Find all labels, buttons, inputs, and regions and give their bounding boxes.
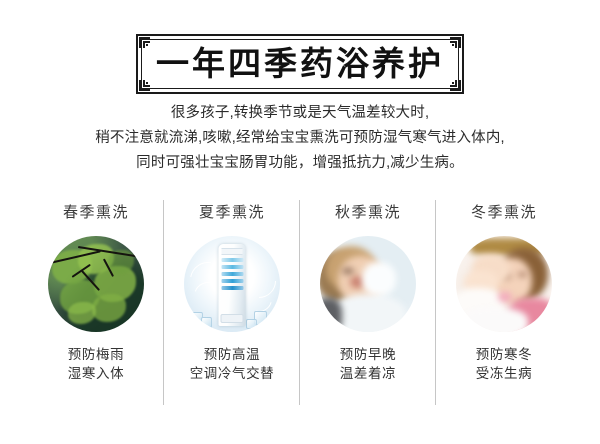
season-title-summer: 夏季熏洗 — [199, 201, 265, 222]
spring-branches-photo — [48, 236, 144, 332]
caption-line: 预防寒冬 — [476, 345, 532, 364]
season-column-spring: 春季熏洗 预防梅雨 湿寒入体 — [28, 196, 164, 406]
season-title-autumn: 秋季熏洗 — [335, 201, 401, 222]
intro-line-3: 同时可强壮宝宝肠胃功能，增强抵抗力,减少生病。 — [0, 151, 600, 176]
caption-line: 湿寒入体 — [68, 364, 124, 383]
season-title-winter: 冬季熏洗 — [471, 201, 537, 222]
season-column-winter: 冬季熏洗 预防寒冬 受冻生病 — [436, 196, 572, 406]
caption-line: 空调冷气交替 — [190, 364, 275, 383]
autumn-sneezing-baby-photo — [320, 236, 416, 332]
summer-air-conditioner-photo — [184, 236, 280, 332]
season-columns: 春季熏洗 预防梅雨 湿寒入体 夏季熏洗 — [28, 196, 572, 406]
caption-line: 预防高温 — [190, 345, 275, 364]
caption-line: 预防早晚 — [340, 345, 396, 364]
intro-line-1: 很多孩子,转换季节或是天气温差较大时, — [0, 101, 600, 126]
season-caption-summer: 预防高温 空调冷气交替 — [190, 345, 275, 383]
caption-line: 受冻生病 — [476, 364, 532, 383]
page-title: 一年四季药浴养护 — [136, 34, 464, 94]
winter-sick-child-photo — [456, 236, 552, 332]
air-conditioner-unit — [219, 244, 246, 326]
season-title-spring: 春季熏洗 — [63, 201, 129, 222]
season-column-summer: 夏季熏洗 预防高温 空调冷气交替 — [164, 196, 300, 406]
caption-line: 温差着凉 — [340, 364, 396, 383]
season-caption-spring: 预防梅雨 湿寒入体 — [68, 345, 124, 383]
title-frame: 一年四季药浴养护 — [136, 34, 464, 94]
poster-root: { "header": { "title": "一年四季药浴养护" }, "in… — [0, 0, 600, 444]
season-column-autumn: 秋季熏洗 预防早晚 温差着凉 — [300, 196, 436, 406]
season-caption-winter: 预防寒冬 受冻生病 — [476, 345, 532, 383]
season-caption-autumn: 预防早晚 温差着凉 — [340, 345, 396, 383]
intro-line-2: 稍不注意就流涕,咳嗽,经常给宝宝熏洗可预防湿气寒气进入体内, — [0, 126, 600, 151]
intro-paragraph: 很多孩子,转换季节或是天气温差较大时, 稍不注意就流涕,咳嗽,经常给宝宝熏洗可预… — [0, 101, 600, 176]
caption-line: 预防梅雨 — [68, 345, 124, 364]
